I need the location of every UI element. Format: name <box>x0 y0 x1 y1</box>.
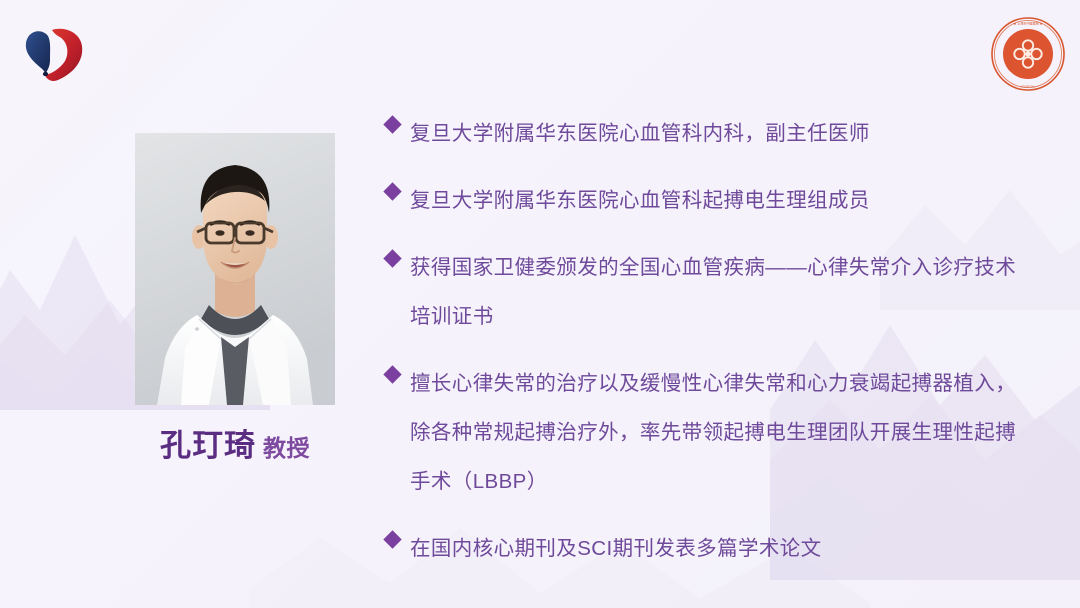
credential-text: 复旦大学附属华东医院心血管科内科，副主任医师 <box>410 109 1046 158</box>
speaker-title: 教授 <box>263 435 310 461</box>
speaker-name-line: 孔玎琦教授 <box>135 430 335 461</box>
list-item: 擅长心律失常的治疗以及缓慢性心律失常和心力衰竭起搏器植入， 除各种常规起搏治疗外… <box>386 359 1046 506</box>
list-item: 获得国家卫健委颁发的全国心血管疾病——心律失常介入诊疗技术 培训证书 <box>386 243 1046 341</box>
list-item: 复旦大学附属华东医院心血管科内科，副主任医师 <box>386 109 1046 158</box>
diamond-bullet-icon <box>383 115 401 133</box>
credential-text: 获得国家卫健委颁发的全国心血管疾病——心律失常介入诊疗技术 培训证书 <box>410 243 1046 341</box>
diamond-bullet-icon <box>383 249 401 267</box>
heart-ribbon-logo-icon <box>20 24 92 86</box>
svg-text:HOSPITAL: HOSPITAL <box>1020 85 1035 89</box>
svg-text:★ 上海市中医医院 ★: ★ 上海市中医医院 ★ <box>1013 20 1043 25</box>
list-item: 在国内核心期刊及SCI期刊发表多篇学术论文 <box>386 524 1046 573</box>
hospital-seal-logo-icon: ★ 上海市中医医院 ★ HOSPITAL <box>990 16 1066 92</box>
diamond-bullet-icon <box>383 182 401 200</box>
diamond-bullet-icon <box>383 365 401 383</box>
slide-canvas: ★ 上海市中医医院 ★ HOSPITAL <box>0 0 1080 608</box>
credential-text: 复旦大学附属华东医院心血管科起搏电生理组成员 <box>410 176 1046 225</box>
doctor-portrait-photo-icon <box>135 133 335 405</box>
credentials-list: 复旦大学附属华东医院心血管科内科，副主任医师 复旦大学附属华东医院心血管科起搏电… <box>386 109 1046 591</box>
credential-text: 擅长心律失常的治疗以及缓慢性心律失常和心力衰竭起搏器植入， 除各种常规起搏治疗外… <box>410 359 1046 506</box>
speaker-photo <box>135 133 335 405</box>
credential-text: 在国内核心期刊及SCI期刊发表多篇学术论文 <box>410 524 1046 573</box>
diamond-bullet-icon <box>383 530 401 548</box>
list-item: 复旦大学附属华东医院心血管科起搏电生理组成员 <box>386 176 1046 225</box>
speaker-name: 孔玎琦 <box>160 428 256 463</box>
